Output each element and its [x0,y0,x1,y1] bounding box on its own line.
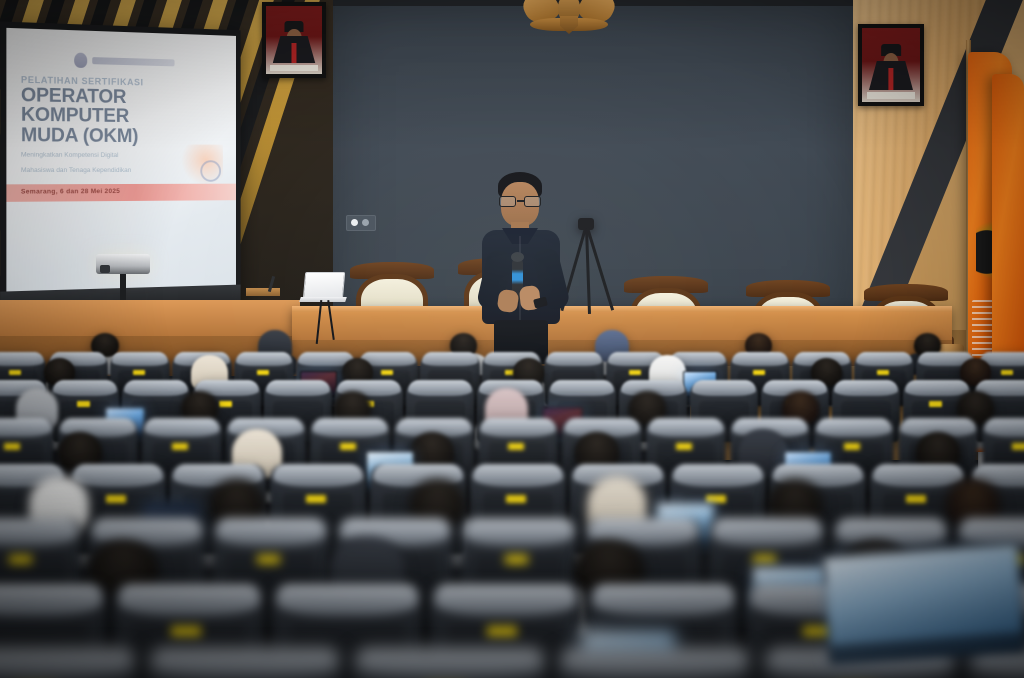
slide-date-band: Semarang, 6 dan 28 Mei 2025 [6,184,236,202]
presidential-portrait [262,2,326,78]
seat-number-tag [629,370,641,375]
slide-date-text: Semarang, 6 dan 28 Mei 2025 [6,184,236,200]
seat-number-tag [506,495,525,503]
seat-headrest [0,518,78,546]
seat-headrest [0,352,44,366]
seat-number-tag [877,370,889,375]
seat-headrest [550,380,614,396]
seat-headrest [422,352,478,366]
seat-number-tag [505,555,529,565]
glasses-icon [498,196,542,207]
auditorium-seat [0,648,140,678]
seat-headrest [732,352,788,366]
seat-number-tag [306,495,325,503]
seat-headrest [312,418,387,437]
seat-headrest [561,648,749,678]
seat-number-tag [340,443,356,450]
seat-headrest [960,518,1024,546]
seat-headrest [236,352,292,366]
seat-number-tag [257,370,269,375]
white-laptop-on-stage-table [300,272,344,302]
side-podium [246,288,280,296]
audience-seating [0,318,1024,678]
seat-number-tag [929,401,943,407]
seat-number-tag [508,443,524,450]
ceiling-projector [96,254,150,274]
seat-number-tag [106,495,125,503]
foreground-laptop [822,543,1024,664]
seat-number-tag [753,370,765,375]
seat-headrest [905,380,969,396]
auditorium-seat [350,648,550,678]
seat-number-tag [4,443,20,450]
seat-number-tag [906,495,925,503]
seat-headrest [277,584,418,616]
seat-headrest [266,380,330,396]
seat-headrest [0,584,102,616]
auditorium-photo: PELATIHAN SERTIFIKASI OPERATOR KOMPUTER … [0,0,1024,678]
seat-number-tag [381,370,393,375]
wall-power-outlet [346,215,376,231]
seat-number-tag [77,401,91,407]
seat-number-tag [133,370,145,375]
seat-headrest [151,648,339,678]
seat-number-tag [9,370,21,375]
garuda-pancasila-emblem [520,0,618,38]
seat-number-tag [1001,370,1013,375]
seat-headrest [836,518,947,546]
seat-headrest [0,648,134,678]
seat-headrest [464,518,575,546]
auditorium-seat [145,648,345,678]
seat-headrest [984,418,1024,437]
seat-headrest [124,380,188,396]
seat-headrest [112,352,168,366]
seat-headrest [273,464,363,487]
seat-headrest [119,584,260,616]
seat-headrest [53,380,117,396]
seat-headrest [873,464,963,487]
seat-headrest [435,584,576,616]
seat-headrest [356,648,544,678]
seat-number-tag [676,443,692,450]
seat-headrest [856,352,912,366]
seat-number-tag [9,555,33,565]
seat-number-tag [172,443,188,450]
presenter [468,172,576,362]
seat-headrest [593,584,734,616]
seat-headrest [834,380,898,396]
seat-number-tag [1012,443,1024,450]
seat-number-tag [487,626,517,637]
seat-headrest [546,352,602,366]
slide-decoration [179,144,223,183]
vice-presidential-portrait [858,24,924,106]
seat-headrest [816,418,891,437]
seat-headrest [480,418,555,437]
seat-headrest [408,380,472,396]
seat-headrest [648,418,723,437]
auditorium-seat [555,648,755,678]
seat-headrest [692,380,756,396]
seat-number-tag [219,401,233,407]
institution-logo [21,51,223,72]
seat-number-tag [171,626,201,637]
seat-headrest [712,518,823,546]
seat-headrest [673,464,763,487]
seat-headrest [473,464,563,487]
seat-headrest [144,418,219,437]
seat-headrest [73,464,163,487]
seat-number-tag [753,555,777,565]
seat-headrest [216,518,327,546]
seat-number-tag [257,555,281,565]
seat-headrest [0,418,52,437]
seat-number-tag [844,443,860,450]
